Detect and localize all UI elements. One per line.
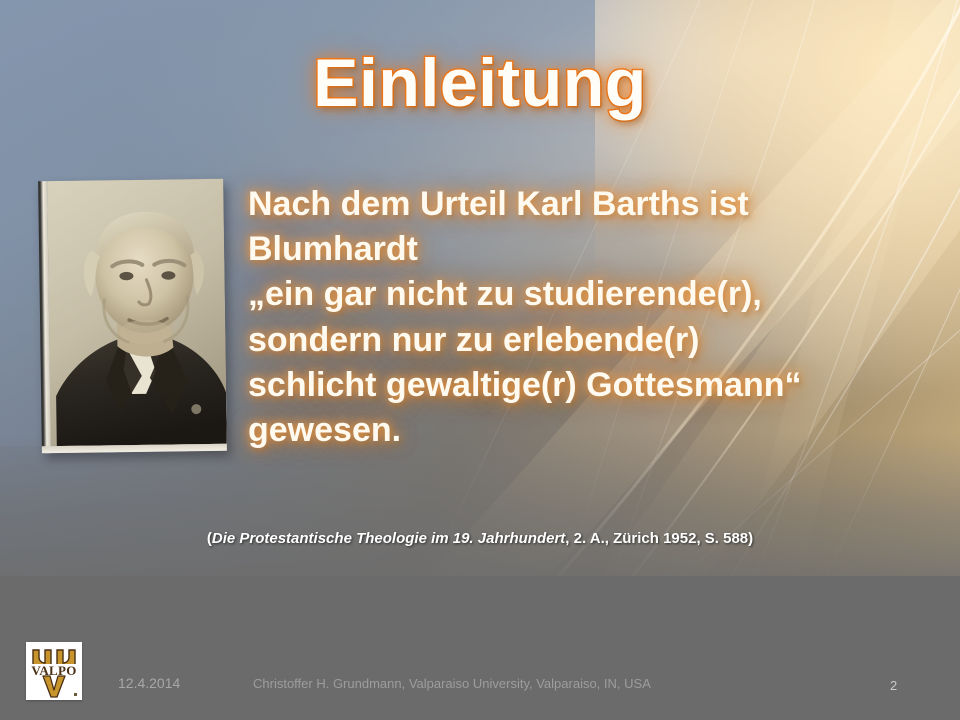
svg-text:VALPO: VALPO: [31, 663, 76, 678]
citation: (Die Protestantische Theologie im 19. Ja…: [0, 530, 960, 547]
quote-line: „ein gar nicht zu studierende(r),: [248, 272, 908, 317]
slide-title: Einleitung: [0, 44, 960, 122]
footer-date: 12.4.2014: [118, 675, 180, 691]
footer-band: [0, 576, 960, 720]
quote-line: Nach dem Urteil Karl Barths ist: [248, 182, 908, 227]
portrait-frame: [38, 179, 227, 454]
quote-line: Blumhardt: [248, 227, 908, 272]
citation-work-title: Die Protestantische Theologie im 19. Jah…: [212, 530, 565, 547]
quote-line: gewesen.: [248, 408, 908, 453]
portrait-photo: [47, 179, 227, 446]
valpo-logo: VALPO: [26, 642, 82, 700]
citation-rest: , 2. A., Zürich 1952, S. 588): [565, 530, 753, 547]
page-number: 2: [890, 678, 897, 693]
footer-credit: Christoffer H. Grundmann, Valparaiso Uni…: [253, 676, 651, 691]
quote-line: schlicht gewaltige(r) Gottesmann“: [248, 363, 908, 408]
quote-block: Nach dem Urteil Karl Barths ist Blumhard…: [248, 182, 908, 453]
presentation-slide: Einleitung: [0, 0, 960, 720]
quote-line: sondern nur zu erlebende(r): [248, 318, 908, 363]
